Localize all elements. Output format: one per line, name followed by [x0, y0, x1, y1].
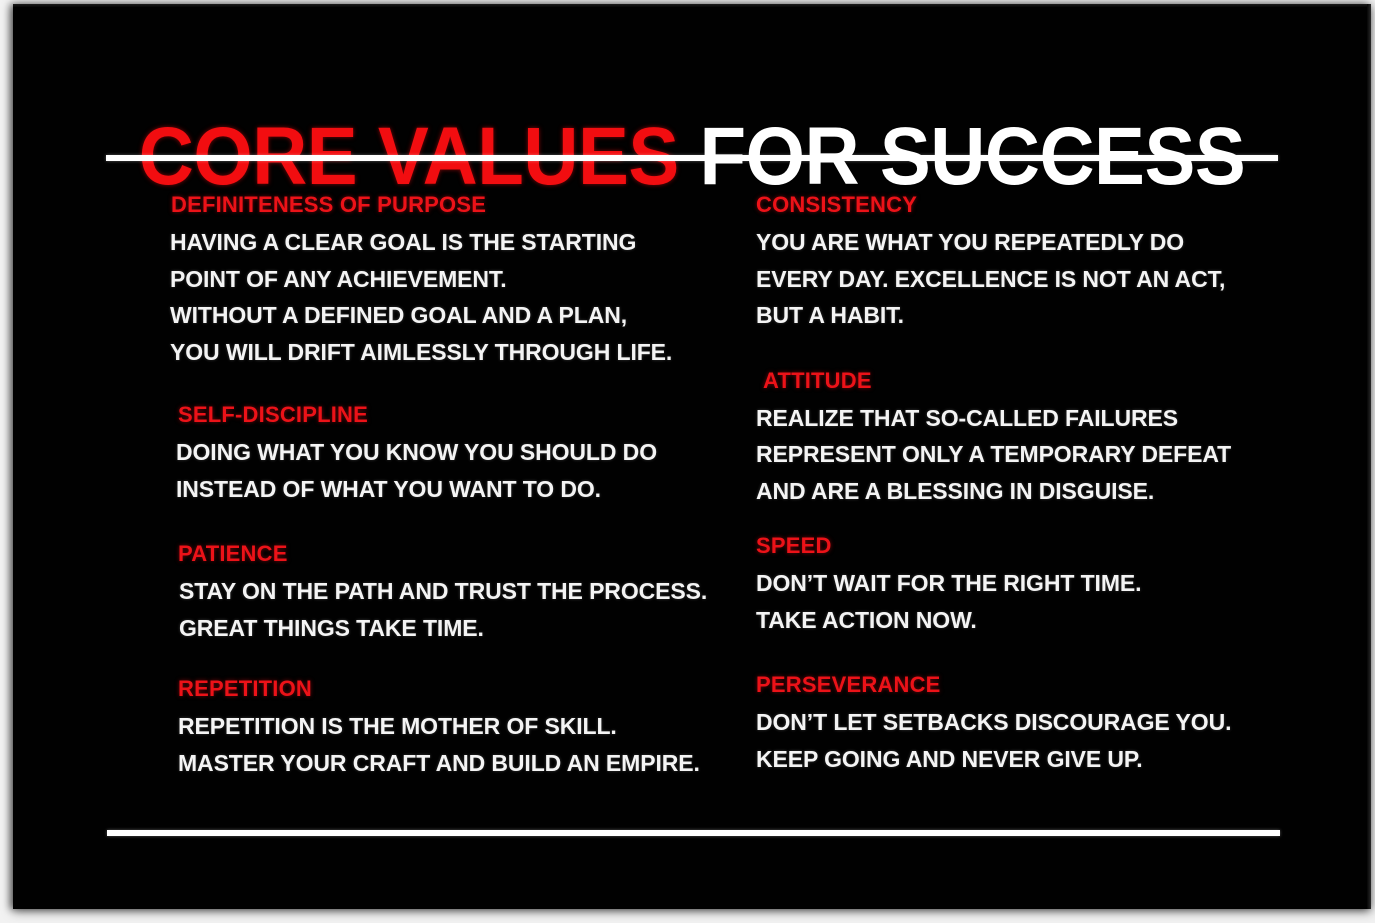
value-heading-definiteness-of-purpose: DEFINITENESS OF PURPOSE [170, 190, 760, 220]
poster-top-edge [13, 4, 1371, 7]
value-heading-repetition: REPETITION [170, 674, 760, 704]
value-heading-self-discipline: SELF-DISCIPLINE [170, 400, 760, 430]
divider-bottom [107, 830, 1280, 836]
values-grid: DEFINITENESS OF PURPOSE HAVING A CLEAR G… [13, 190, 1371, 820]
value-body-definiteness-of-purpose: HAVING A CLEAR GOAL IS THE STARTING POIN… [170, 224, 760, 370]
value-line: YOU ARE WHAT YOU REPEATEDLY DO [748, 224, 1338, 261]
value-line: INSTEAD OF WHAT YOU WANT TO DO. [170, 471, 760, 508]
value-body-consistency: YOU ARE WHAT YOU REPEATEDLY DO EVERY DAY… [748, 224, 1338, 334]
value-body-perseverance: DON’T LET SETBACKS DISCOURAGE YOU. KEEP … [748, 704, 1338, 777]
value-block-repetition: REPETITION REPETITION IS THE MOTHER OF S… [170, 674, 760, 781]
value-line: REPETITION IS THE MOTHER OF SKILL. [170, 708, 760, 745]
divider-top [106, 155, 1278, 161]
value-heading-attitude: ATTITUDE [748, 366, 1338, 396]
value-block-speed: SPEED DON’T WAIT FOR THE RIGHT TIME. TAK… [748, 531, 1338, 638]
value-line: TAKE ACTION NOW. [748, 602, 1338, 639]
value-block-consistency: CONSISTENCY YOU ARE WHAT YOU REPEATEDLY … [748, 190, 1338, 334]
values-column-left: DEFINITENESS OF PURPOSE HAVING A CLEAR G… [170, 190, 760, 781]
value-block-perseverance: PERSEVERANCE DON’T LET SETBACKS DISCOURA… [748, 670, 1338, 777]
value-line: MASTER YOUR CRAFT AND BUILD AN EMPIRE. [170, 745, 760, 782]
poster-page-background: CORE VALUES FOR SUCCESS DEFINITENESS OF … [0, 0, 1375, 923]
value-line: DON’T LET SETBACKS DISCOURAGE YOU. [748, 704, 1338, 741]
value-line: BUT A HABIT. [748, 297, 1338, 334]
value-body-attitude: REALIZE THAT SO-CALLED FAILURES REPRESEN… [748, 400, 1338, 510]
value-line: REPRESENT ONLY A TEMPORARY DEFEAT [748, 436, 1338, 473]
value-block-definiteness-of-purpose: DEFINITENESS OF PURPOSE HAVING A CLEAR G… [170, 190, 760, 370]
value-line: GREAT THINGS TAKE TIME. [170, 610, 760, 647]
value-line: DON’T WAIT FOR THE RIGHT TIME. [748, 565, 1338, 602]
value-line: POINT OF ANY ACHIEVEMENT. [170, 261, 760, 298]
value-body-speed: DON’T WAIT FOR THE RIGHT TIME. TAKE ACTI… [748, 565, 1338, 638]
value-heading-patience: PATIENCE [170, 539, 760, 569]
value-line: KEEP GOING AND NEVER GIVE UP. [748, 741, 1338, 778]
value-heading-speed: SPEED [748, 531, 1338, 561]
values-column-right: CONSISTENCY YOU ARE WHAT YOU REPEATEDLY … [748, 190, 1338, 777]
value-body-self-discipline: DOING WHAT YOU KNOW YOU SHOULD DO INSTEA… [170, 434, 760, 507]
value-line: REALIZE THAT SO-CALLED FAILURES [748, 400, 1338, 437]
value-body-patience: STAY ON THE PATH AND TRUST THE PROCESS. … [170, 573, 760, 646]
value-heading-consistency: CONSISTENCY [748, 190, 1338, 220]
value-line: AND ARE A BLESSING IN DISGUISE. [748, 473, 1338, 510]
value-line: EVERY DAY. EXCELLENCE IS NOT AN ACT, [748, 261, 1338, 298]
value-line: YOU WILL DRIFT AIMLESSLY THROUGH LIFE. [170, 334, 760, 371]
value-block-attitude: ATTITUDE REALIZE THAT SO-CALLED FAILURES… [748, 366, 1338, 510]
value-line: STAY ON THE PATH AND TRUST THE PROCESS. [170, 573, 760, 610]
value-body-repetition: REPETITION IS THE MOTHER OF SKILL. MASTE… [170, 708, 760, 781]
value-block-patience: PATIENCE STAY ON THE PATH AND TRUST THE … [170, 539, 760, 646]
value-line: WITHOUT A DEFINED GOAL AND A PLAN, [170, 297, 760, 334]
value-line: HAVING A CLEAR GOAL IS THE STARTING [170, 224, 760, 261]
value-block-self-discipline: SELF-DISCIPLINE DOING WHAT YOU KNOW YOU … [170, 400, 760, 507]
value-heading-perseverance: PERSEVERANCE [748, 670, 1338, 700]
value-line: DOING WHAT YOU KNOW YOU SHOULD DO [170, 434, 760, 471]
motivational-poster: CORE VALUES FOR SUCCESS DEFINITENESS OF … [13, 4, 1371, 909]
